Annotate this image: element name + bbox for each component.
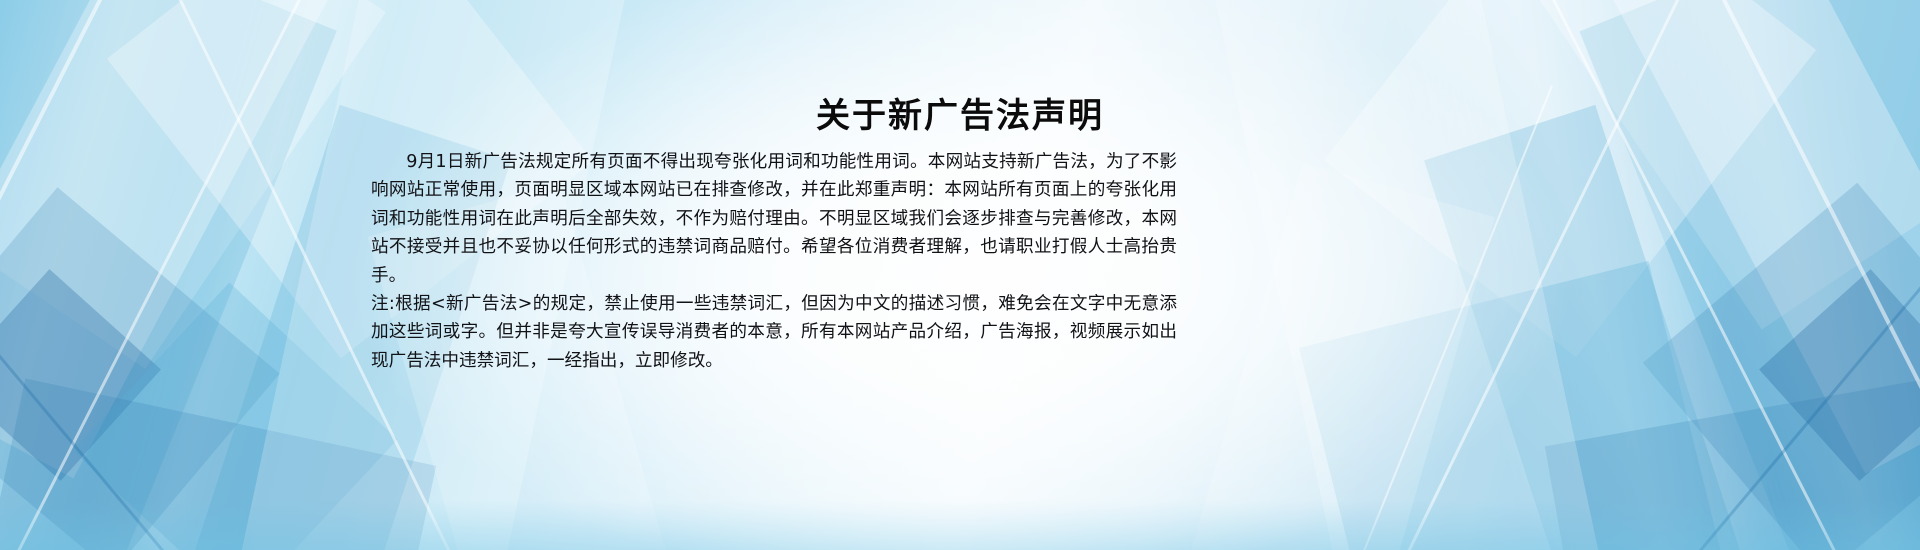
- page-title: 关于新广告法声明: [0, 88, 1920, 137]
- statement-body: 9月1日新广告法规定所有页面不得出现夸张化用词和功能性用词。本网站支持新广告法，…: [371, 148, 1177, 375]
- statement-content: 关于新广告法声明 9月1日新广告法规定所有页面不得出现夸张化用词和功能性用词。本…: [0, 0, 1920, 550]
- statement-paragraph-note: 注:根据<新广告法>的规定，禁止使用一些违禁词汇，但因为中文的描述习惯，难免会在…: [371, 290, 1177, 375]
- statement-paragraph-main: 9月1日新广告法规定所有页面不得出现夸张化用词和功能性用词。本网站支持新广告法，…: [371, 148, 1177, 290]
- advertising-law-statement-banner: 关于新广告法声明 9月1日新广告法规定所有页面不得出现夸张化用词和功能性用词。本…: [0, 0, 1920, 550]
